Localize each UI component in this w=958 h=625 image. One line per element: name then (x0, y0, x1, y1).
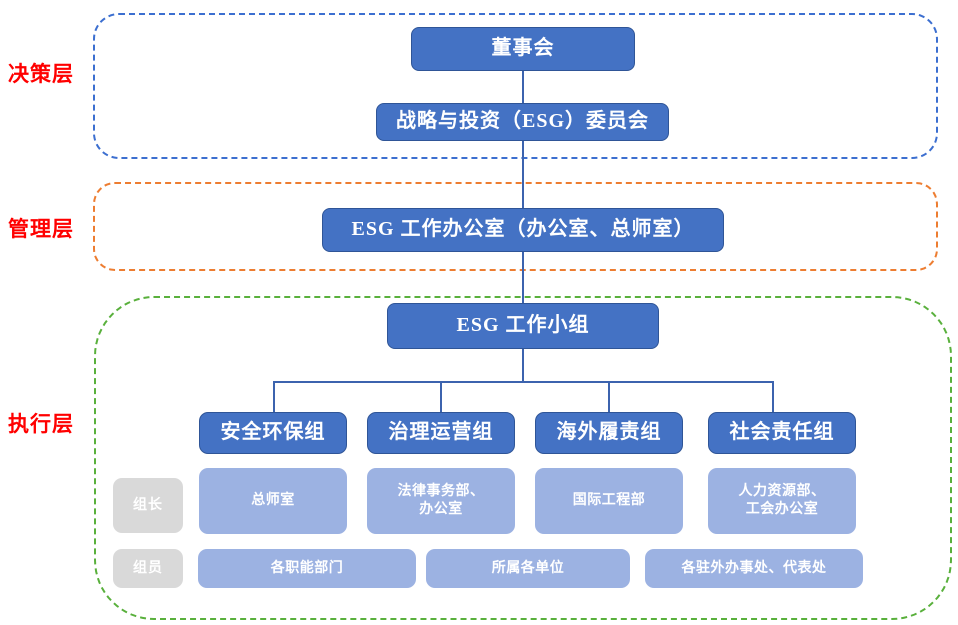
node-member-functional-departments[interactable]: 各职能部门 (198, 549, 416, 588)
connector-board-to-committee (522, 70, 524, 105)
node-group-leader-overseas-responsibility[interactable]: 国际工程部 (535, 468, 683, 534)
role-label-leader: 组长 (113, 478, 183, 533)
connector-bus-to-group-1 (273, 381, 275, 412)
node-group-overseas-responsibility[interactable]: 海外履责组 (535, 412, 683, 454)
connector-bus-to-group-2 (440, 381, 442, 412)
node-strategy-investment-esg-committee[interactable]: 战略与投资（ESG）委员会 (376, 103, 669, 141)
node-group-leader-safety-environment[interactable]: 总师室 (199, 468, 347, 534)
node-member-overseas-offices[interactable]: 各驻外办事处、代表处 (645, 549, 863, 588)
node-group-leader-social-responsibility[interactable]: 人力资源部、 工会办公室 (708, 468, 856, 534)
org-chart-canvas: 决策层 管理层 执行层 董事会 战略与投资（ESG）委员会 ESG 工作办公室（… (0, 0, 958, 625)
node-board[interactable]: 董事会 (411, 27, 635, 71)
layer-label-decision: 决策层 (8, 58, 74, 88)
node-esg-working-group[interactable]: ESG 工作小组 (387, 303, 659, 349)
role-label-member: 组员 (113, 549, 183, 588)
node-esg-working-office[interactable]: ESG 工作办公室（办公室、总师室） (322, 208, 724, 252)
connector-committee-to-office (522, 138, 524, 210)
layer-label-management: 管理层 (8, 213, 74, 243)
node-group-leader-governance-operations[interactable]: 法律事务部、 办公室 (367, 468, 515, 534)
connector-bus-to-group-3 (608, 381, 610, 412)
node-member-subordinate-units[interactable]: 所属各单位 (426, 549, 630, 588)
layer-label-execution: 执行层 (8, 408, 74, 438)
connector-workgroup-drop (522, 348, 524, 382)
node-group-social-responsibility[interactable]: 社会责任组 (708, 412, 856, 454)
node-group-governance-operations[interactable]: 治理运营组 (367, 412, 515, 454)
connector-horizontal-bus (273, 381, 773, 383)
connector-bus-to-group-4 (772, 381, 774, 412)
node-group-safety-environment[interactable]: 安全环保组 (199, 412, 347, 454)
connector-office-to-workgroup (522, 250, 524, 304)
